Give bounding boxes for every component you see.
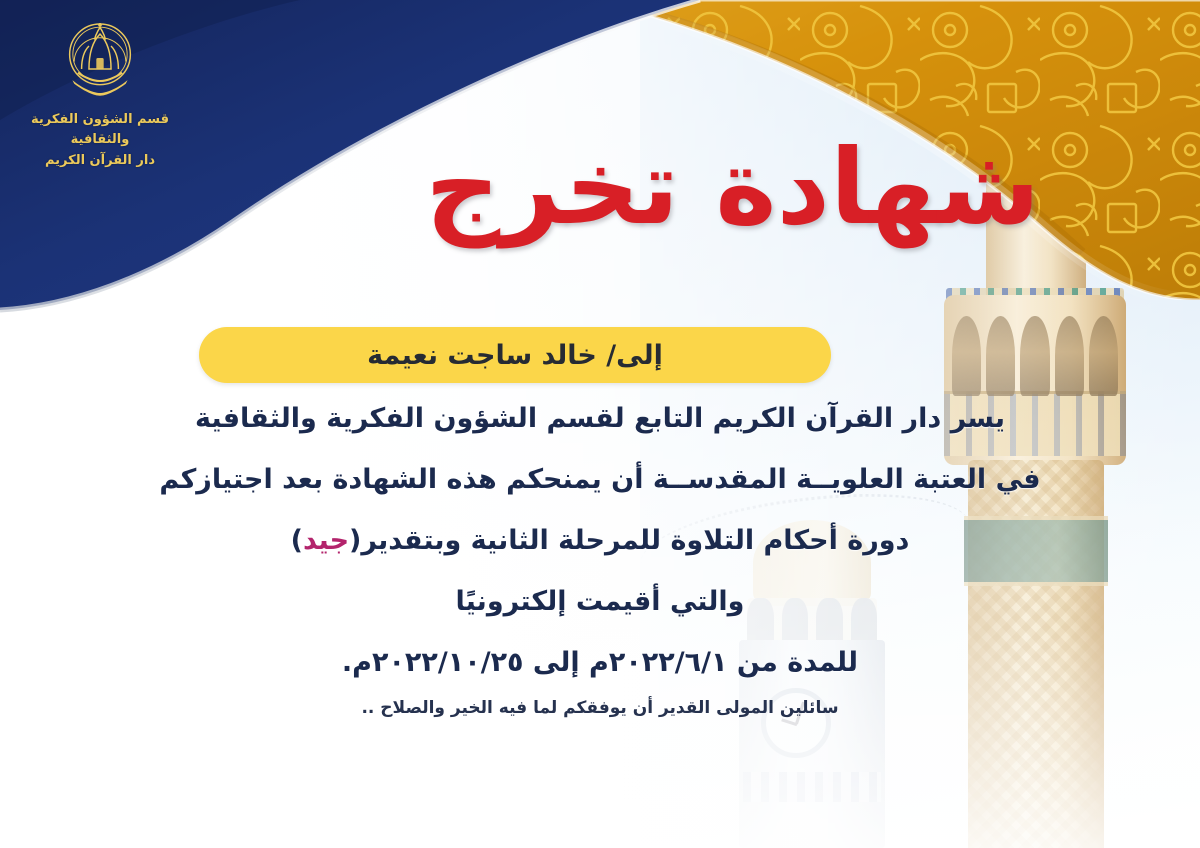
certificate-page: قسم الشؤون الفكرية والثقافية دار القرآن …: [0, 0, 1200, 848]
course-date-range: للمدة من ٢٠٢٢/٦/١م إلى ٢٠٢٢/١٠/٢٥م.: [0, 649, 1200, 676]
logo-department-line: قسم الشؤون الفكرية والثقافية: [20, 110, 180, 149]
organization-logo: قسم الشؤون الفكرية والثقافية دار القرآن …: [20, 12, 180, 171]
certificate-body: يسر دار القرآن الكريم التابع لقسم الشؤون…: [0, 405, 1200, 718]
recipient-name-banner: إلى/ خالد ساجت نعيمة: [199, 327, 831, 383]
shrine-emblem-icon: [54, 12, 146, 104]
body-line-4: والتي أقيمت إلكترونيًا: [0, 588, 1200, 615]
recipient-name-text: إلى/ خالد ساجت نعيمة: [367, 340, 663, 371]
closing-prayer-line: سائلين المولى القدير أن يوفقكم لما فيه ا…: [0, 698, 1200, 718]
body-line-3: دورة أحكام التلاوة للمرحلة الثانية وبتقد…: [0, 527, 1200, 554]
grade-value: جيد: [303, 525, 349, 556]
body-line-1: يسر دار القرآن الكريم التابع لقسم الشؤون…: [0, 405, 1200, 432]
body-line-2: في العتبة العلويــة المقدســة أن يمنحكم …: [0, 466, 1200, 493]
body-line-3-suffix: ): [291, 525, 303, 556]
logo-house-line: دار القرآن الكريم: [20, 151, 180, 171]
minaret-arches: [952, 316, 1118, 396]
tower-tile-band: [743, 772, 881, 802]
page-title: شهادة تخرج: [440, 122, 1040, 252]
body-line-3-prefix: دورة أحكام التلاوة للمرحلة الثانية وبتقد…: [349, 525, 909, 556]
